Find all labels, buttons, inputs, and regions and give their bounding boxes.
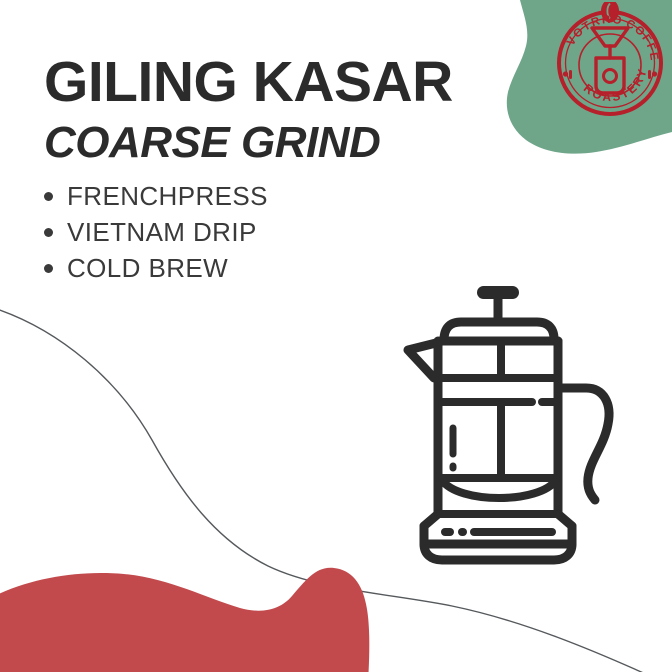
headline-block: GILING KASAR COARSE GRIND bbox=[44, 52, 514, 170]
red-organic-blob bbox=[0, 568, 369, 672]
list-item-label: COLD BREW bbox=[67, 253, 228, 283]
french-press-illustration bbox=[398, 282, 634, 574]
page-subtitle: COARSE GRIND bbox=[44, 116, 514, 170]
list-item: VIETNAM DRIP bbox=[44, 214, 268, 250]
press-handle bbox=[558, 388, 609, 500]
press-filter-center-dot bbox=[495, 494, 503, 502]
bullet-dot-icon bbox=[44, 228, 53, 237]
list-item-label: FRENCHPRESS bbox=[67, 181, 268, 211]
page-title: GILING KASAR bbox=[44, 52, 514, 112]
press-base-band bbox=[440, 514, 556, 532]
brand-logo[interactable]: VOTRRO COFFEE ROASTERY bbox=[551, 2, 669, 120]
bullet-dot-icon bbox=[44, 264, 53, 273]
list-item: COLD BREW bbox=[44, 250, 268, 286]
list-item: FRENCHPRESS bbox=[44, 178, 268, 214]
french-press-icon bbox=[398, 282, 634, 574]
bullet-dot-icon bbox=[44, 192, 53, 201]
grinder-funnel-icon bbox=[592, 28, 628, 93]
votrro-coffee-roastery-emblem: VOTRRO COFFEE ROASTERY bbox=[551, 2, 669, 120]
poster-canvas: VOTRRO COFFEE ROASTERY GILING KASAR COAR… bbox=[0, 0, 672, 672]
list-item-label: VIETNAM DRIP bbox=[67, 217, 257, 247]
brew-method-list: FRENCHPRESS VIETNAM DRIP COLD BREW bbox=[44, 178, 268, 286]
